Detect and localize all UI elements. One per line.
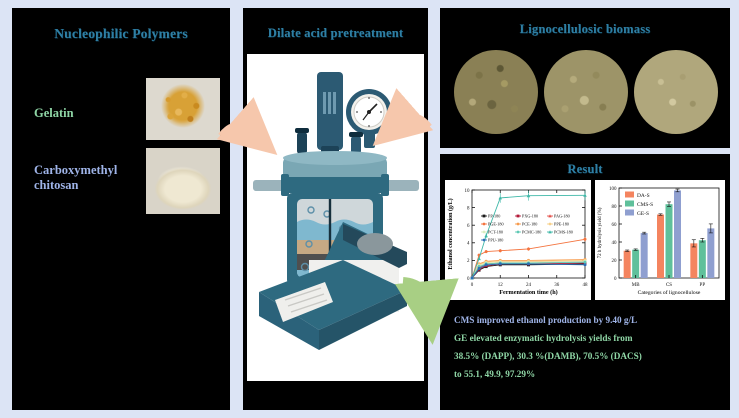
result-text-line-4: to 55.1, 49.9, 97.29% <box>454 368 719 381</box>
biomass-sample-3 <box>634 50 718 134</box>
gelatin-flakes-photo <box>146 78 220 140</box>
svg-text:2: 2 <box>467 259 470 264</box>
cmc-powder-photo <box>146 148 220 214</box>
svg-text:12: 12 <box>498 283 504 288</box>
polymer-label-gelatin: Gelatin <box>34 106 74 121</box>
svg-text:36: 36 <box>554 283 560 288</box>
svg-text:CS: CS <box>666 283 672 288</box>
panel-result: Result 0122436480246810PP-180PXG-180PAG-… <box>440 154 730 410</box>
svg-text:24: 24 <box>526 283 532 288</box>
svg-text:PCMC-180: PCMC-180 <box>522 230 541 235</box>
svg-text:GE-S: GE-S <box>637 211 649 217</box>
svg-text:PP: PP <box>700 283 706 288</box>
result-summary-text: CMS improved ethanol production by 9.40 … <box>454 314 719 386</box>
svg-text:PAG-180: PAG-180 <box>554 214 570 219</box>
svg-text:PPU-180: PPU-180 <box>488 238 503 243</box>
panel-dilate-acid-pretreatment: Dilate acid pretreatment <box>243 8 428 410</box>
svg-text:10: 10 <box>465 189 471 194</box>
svg-text:72 h hydrolysis yield (%): 72 h hydrolysis yield (%) <box>598 207 603 258</box>
svg-text:PGE-180: PGE-180 <box>488 222 504 227</box>
svg-text:PCE-180: PCE-180 <box>522 222 537 227</box>
svg-text:60: 60 <box>612 223 618 228</box>
svg-text:6: 6 <box>467 224 470 229</box>
svg-text:4: 4 <box>467 242 470 247</box>
svg-text:0: 0 <box>614 277 617 282</box>
result-text-line-3: 38.5% (DAPP), 30.3 %(DAMB), 70.5% (DACS) <box>454 350 719 363</box>
svg-text:40: 40 <box>612 241 618 246</box>
svg-text:100: 100 <box>609 187 617 192</box>
svg-text:DA-S: DA-S <box>637 193 650 199</box>
svg-text:PP-180: PP-180 <box>488 214 500 219</box>
hydrolysis-yield-bar-chart: 020406080100MBCSPPDA-SCMS-SGE-SCategorie… <box>595 180 725 300</box>
biomass-sample-1 <box>454 50 538 134</box>
svg-text:20: 20 <box>612 259 618 264</box>
svg-text:80: 80 <box>612 205 618 210</box>
svg-text:Ethanol concentration (g/L): Ethanol concentration (g/L) <box>447 198 454 269</box>
svg-text:PCMS-180: PCMS-180 <box>554 230 573 235</box>
panel-title-result: Result <box>440 162 730 177</box>
svg-text:Fermentation time (h): Fermentation time (h) <box>499 289 557 296</box>
autoclave-reactor-illustration <box>247 54 424 381</box>
result-charts-container: 0122436480246810PP-180PXG-180PAG-180PGE-… <box>445 180 725 300</box>
panel-title-nucleophilic-polymers: Nucleophilic Polymers <box>12 26 230 42</box>
polymer-label-carboxymethyl-chitosan: Carboxymethyl chitosan <box>34 163 144 193</box>
graphical-abstract: Nucleophilic Polymers Gelatin Carboxymet… <box>0 0 739 418</box>
svg-text:0: 0 <box>467 277 470 282</box>
panel-title-dilate-acid-pretreatment: Dilate acid pretreatment <box>243 26 428 41</box>
svg-text:CMS-S: CMS-S <box>637 202 653 208</box>
svg-text:PCT-180: PCT-180 <box>488 230 503 235</box>
svg-text:8: 8 <box>467 206 470 211</box>
panel-title-lignocellulosic-biomass: Lignocellulosic biomass <box>440 22 730 37</box>
svg-text:PXG-180: PXG-180 <box>522 214 538 219</box>
svg-text:Categories of lignocellulose: Categories of lignocellulose <box>638 289 701 296</box>
result-text-line-1: CMS improved ethanol production by 9.40 … <box>454 314 719 327</box>
svg-text:PPE-180: PPE-180 <box>554 222 569 227</box>
svg-text:0: 0 <box>471 283 474 288</box>
biomass-sample-2 <box>544 50 628 134</box>
result-text-line-2: GE elevated enzymatic hydrolysis yields … <box>454 332 719 345</box>
panel-nucleophilic-polymers: Nucleophilic Polymers Gelatin Carboxymet… <box>12 8 230 410</box>
svg-text:48: 48 <box>583 283 589 288</box>
ethanol-fermentation-line-chart: 0122436480246810PP-180PXG-180PAG-180PGE-… <box>445 180 591 300</box>
panel-lignocellulosic-biomass: Lignocellulosic biomass <box>440 8 730 148</box>
svg-text:MB: MB <box>632 283 640 288</box>
